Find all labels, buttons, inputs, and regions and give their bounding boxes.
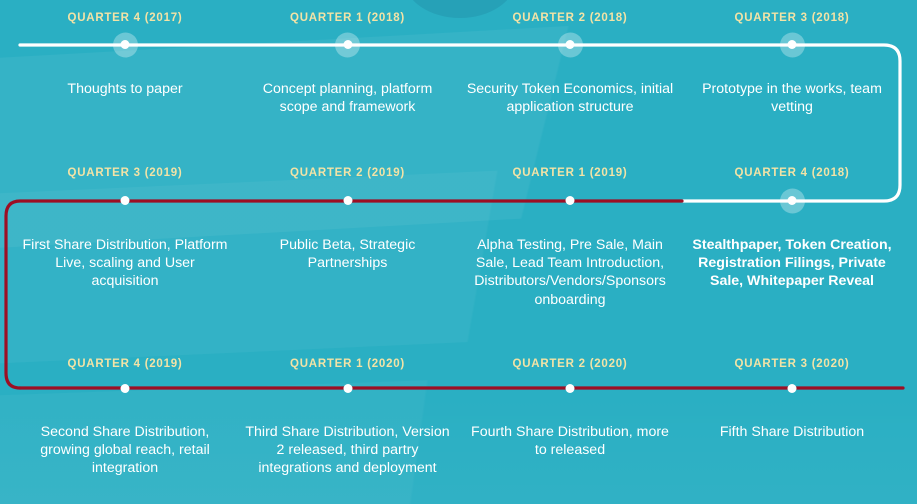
- timeline-item[interactable]: QUARTER 1 (2020) Third Share Distributio…: [236, 347, 459, 504]
- timeline-item[interactable]: QUARTER 4 (2019) Second Share Distributi…: [14, 347, 236, 504]
- timeline-node-dot[interactable]: [343, 40, 352, 49]
- timeline-item[interactable]: QUARTER 3 (2019) First Share Distributio…: [14, 156, 236, 354]
- timeline-node-dot[interactable]: [566, 196, 575, 205]
- timeline-node-dot[interactable]: [121, 40, 130, 49]
- timeline-node-dot[interactable]: [121, 196, 130, 205]
- timeline-node-dot[interactable]: [788, 196, 797, 205]
- milestone-description: Public Beta, Strategic Partnerships: [236, 236, 459, 272]
- quarter-label: QUARTER 1 (2018): [236, 12, 459, 24]
- quarter-label: QUARTER 1 (2019): [459, 167, 681, 179]
- timeline-item[interactable]: QUARTER 3 (2018) Prototype in the works,…: [681, 0, 903, 158]
- timeline-item[interactable]: QUARTER 1 (2019) Alpha Testing, Pre Sale…: [459, 156, 681, 354]
- quarter-label: QUARTER 3 (2018): [681, 12, 903, 24]
- milestone-description: Alpha Testing, Pre Sale, Main Sale, Lead…: [459, 236, 681, 309]
- milestone-description: First Share Distribution, Platform Live,…: [14, 236, 236, 291]
- quarter-label: QUARTER 4 (2017): [14, 12, 236, 24]
- timeline-item[interactable]: QUARTER 1 (2018) Concept planning, platf…: [236, 0, 459, 158]
- quarter-label: QUARTER 2 (2020): [459, 358, 681, 370]
- quarter-label: QUARTER 4 (2018): [681, 167, 903, 179]
- milestone-description: Thoughts to paper: [14, 80, 236, 98]
- milestone-description: Stealthpaper, Token Creation, Registrati…: [681, 236, 903, 291]
- milestone-description: Fourth Share Distribution, more to relea…: [459, 423, 681, 459]
- quarter-label: QUARTER 3 (2019): [14, 167, 236, 179]
- milestone-description: Third Share Distribution, Version 2 rele…: [236, 423, 459, 478]
- quarter-label: QUARTER 1 (2020): [236, 358, 459, 370]
- timeline-item[interactable]: QUARTER 4 (2018) Stealthpaper, Token Cre…: [681, 156, 903, 354]
- roadmap-timeline: QUARTER 4 (2017) Thoughts to paper QUART…: [0, 0, 917, 504]
- milestone-description: Second Share Distribution, growing globa…: [14, 423, 236, 478]
- timeline-node-dot[interactable]: [343, 384, 352, 393]
- timeline-node-dot[interactable]: [566, 384, 575, 393]
- quarter-label: QUARTER 3 (2020): [681, 358, 903, 370]
- timeline-item[interactable]: QUARTER 2 (2020) Fourth Share Distributi…: [459, 347, 681, 504]
- timeline-row-2: QUARTER 3 (2019) First Share Distributio…: [0, 156, 917, 354]
- timeline-item[interactable]: QUARTER 4 (2017) Thoughts to paper: [14, 0, 236, 158]
- milestone-description: Prototype in the works, team vetting: [681, 80, 903, 116]
- timeline-row-1: QUARTER 4 (2017) Thoughts to paper QUART…: [0, 0, 917, 158]
- timeline-node-dot[interactable]: [121, 384, 130, 393]
- milestone-description: Security Token Economics, initial applic…: [459, 80, 681, 116]
- timeline-node-dot[interactable]: [788, 40, 797, 49]
- timeline-node-dot[interactable]: [343, 196, 352, 205]
- milestone-description: Concept planning, platform scope and fra…: [236, 80, 459, 116]
- quarter-label: QUARTER 2 (2019): [236, 167, 459, 179]
- quarter-label: QUARTER 2 (2018): [459, 12, 681, 24]
- timeline-node-dot[interactable]: [566, 40, 575, 49]
- timeline-item[interactable]: QUARTER 2 (2019) Public Beta, Strategic …: [236, 156, 459, 354]
- timeline-row-3: QUARTER 4 (2019) Second Share Distributi…: [0, 347, 917, 504]
- timeline-item[interactable]: QUARTER 2 (2018) Security Token Economic…: [459, 0, 681, 158]
- milestone-description: Fifth Share Distribution: [681, 423, 903, 441]
- timeline-node-dot[interactable]: [788, 384, 797, 393]
- quarter-label: QUARTER 4 (2019): [14, 358, 236, 370]
- timeline-item[interactable]: QUARTER 3 (2020) Fifth Share Distributio…: [681, 347, 903, 504]
